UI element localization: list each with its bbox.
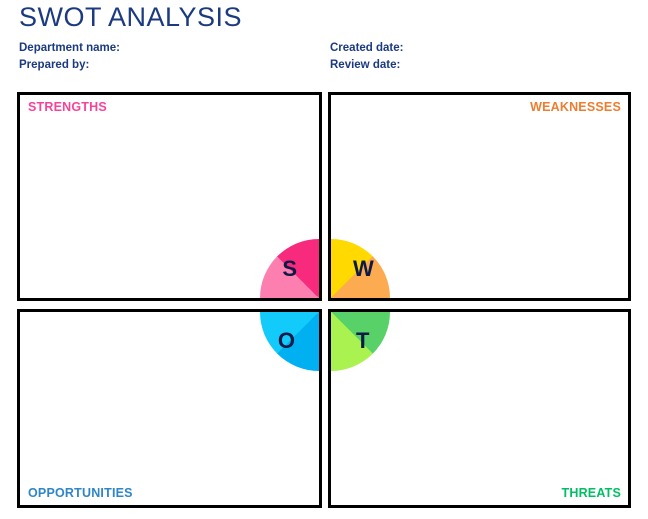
quadrant-label-opportunities: OPPORTUNITIES <box>28 486 133 500</box>
swot-wheel-letter-s: S <box>282 258 297 280</box>
field-department-name-label: Department name: <box>19 40 120 57</box>
quadrant-label-strengths: STRENGTHS <box>28 100 107 114</box>
meta-fields-left: Department name: Prepared by: <box>19 40 120 74</box>
swot-wheel-letter-w: W <box>353 258 374 280</box>
field-prepared-by-label: Prepared by: <box>19 57 120 74</box>
field-review-date-label: Review date: <box>330 57 404 74</box>
swot-wheel-segment-s: S <box>260 239 319 298</box>
field-created-date-label: Created date: <box>330 40 404 57</box>
quadrant-strengths[interactable]: STRENGTHS S <box>17 92 322 301</box>
quadrant-label-weaknesses: WEAKNESSES <box>530 100 621 114</box>
quadrant-threats[interactable]: THREATS T <box>328 309 631 508</box>
swot-wheel-segment-o: O <box>260 312 319 371</box>
quadrant-label-threats: THREATS <box>562 486 622 500</box>
quadrant-opportunities[interactable]: OPPORTUNITIES O <box>17 309 322 508</box>
page-title: SWOT ANALYSIS <box>19 2 242 33</box>
quadrant-weaknesses[interactable]: WEAKNESSES W <box>328 92 631 301</box>
swot-grid: STRENGTHS S WEAKNESSES W OPPORTUNITIES O… <box>17 92 631 508</box>
swot-analysis-page: SWOT ANALYSIS Department name: Prepared … <box>0 0 648 519</box>
swot-wheel-letter-o: O <box>278 330 295 352</box>
swot-wheel-segment-w: W <box>331 239 390 298</box>
swot-wheel-segment-t: T <box>331 312 390 371</box>
swot-wheel-letter-t: T <box>356 330 369 352</box>
meta-fields-right: Created date: Review date: <box>330 40 404 74</box>
